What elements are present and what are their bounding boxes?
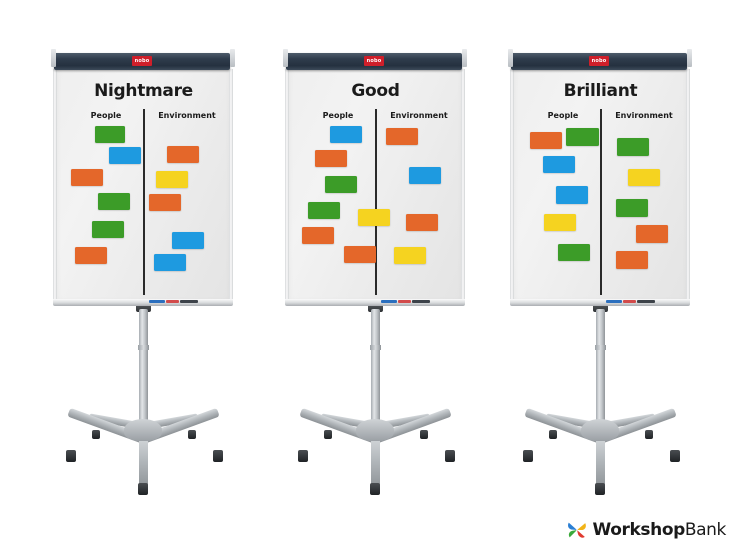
stand-hub: [124, 419, 162, 441]
stand-pole: [139, 309, 148, 433]
canvas: Nightmare People Environment nobo: [0, 0, 740, 555]
board-header-rail: nobo: [511, 53, 687, 70]
column-label-environment: Environment: [606, 111, 682, 120]
stand-pole: [371, 309, 380, 433]
flipchart-good: Good People Environment nobo: [280, 45, 470, 475]
sticky-note[interactable]: [394, 247, 426, 264]
whiteboard-surface[interactable]: Nightmare People Environment: [56, 69, 231, 302]
sticky-note[interactable]: [344, 246, 376, 263]
caster-wheel: [138, 483, 148, 495]
nobo-logo-badge: nobo: [364, 56, 384, 66]
stand-pole: [596, 309, 605, 433]
sticky-note[interactable]: [544, 214, 576, 231]
stand-pole-joint: [370, 345, 381, 350]
butterfly-icon: [566, 519, 588, 541]
logo-wordmark: WorkshopBank: [593, 520, 727, 540]
sticky-notes-layer: [514, 69, 687, 301]
board-edge-right: [229, 69, 233, 303]
sticky-note[interactable]: [98, 193, 130, 210]
rail-end-cap-right: [230, 49, 235, 67]
rail-end-cap-right: [687, 49, 692, 67]
workshopbank-logo[interactable]: WorkshopBank: [566, 519, 727, 541]
column-label-people: People: [307, 111, 369, 120]
column-label-people: People: [75, 111, 137, 120]
caster-wheel: [445, 450, 455, 462]
board-header-rail: nobo: [286, 53, 462, 70]
sticky-note[interactable]: [156, 171, 188, 188]
caster-wheel: [420, 430, 428, 439]
column-label-environment: Environment: [149, 111, 225, 120]
sticky-note[interactable]: [636, 225, 668, 243]
sticky-note[interactable]: [92, 221, 124, 238]
sticky-note[interactable]: [330, 126, 362, 143]
board-header-rail: nobo: [54, 53, 230, 70]
caster-wheel: [523, 450, 533, 462]
sticky-note[interactable]: [543, 156, 575, 173]
marker-pen-red[interactable]: [623, 300, 636, 303]
caster-wheel: [645, 430, 653, 439]
sticky-note[interactable]: [109, 147, 141, 164]
marker-pen-red[interactable]: [398, 300, 411, 303]
marker-pen-red[interactable]: [166, 300, 179, 303]
stand-pole-joint: [595, 345, 606, 350]
whiteboard-surface[interactable]: Good People Environment: [288, 69, 463, 302]
rail-end-cap-right: [462, 49, 467, 67]
sticky-note[interactable]: [358, 209, 390, 226]
sticky-note[interactable]: [556, 186, 588, 204]
logo-text-workshop: Workshop: [593, 520, 685, 540]
marker-pen-blue[interactable]: [606, 300, 622, 303]
sticky-note[interactable]: [386, 128, 418, 145]
sticky-note[interactable]: [315, 150, 347, 167]
caster-wheel: [213, 450, 223, 462]
sticky-note[interactable]: [566, 128, 599, 146]
sticky-note[interactable]: [616, 199, 648, 217]
marker-pen-black[interactable]: [637, 300, 655, 303]
sticky-note[interactable]: [325, 176, 357, 193]
board-edge-left: [285, 69, 289, 303]
rail-end-cap-left: [51, 49, 56, 67]
caster-wheel: [670, 450, 680, 462]
sticky-note[interactable]: [302, 227, 334, 244]
marker-pen-blue[interactable]: [381, 300, 397, 303]
sticky-note[interactable]: [154, 254, 186, 271]
flipchart-brilliant: Brilliant People Environment nobo: [505, 45, 695, 475]
sticky-note[interactable]: [95, 126, 125, 143]
logo-text-bank: Bank: [685, 520, 726, 540]
sticky-note[interactable]: [406, 214, 438, 231]
board-title: Nightmare: [57, 81, 230, 101]
caster-wheel: [549, 430, 557, 439]
sticky-note[interactable]: [75, 247, 107, 264]
flipchart-nightmare: Nightmare People Environment nobo: [48, 45, 238, 475]
pen-tray: [510, 299, 690, 306]
board-title: Brilliant: [514, 81, 687, 101]
caster-wheel: [595, 483, 605, 495]
sticky-note[interactable]: [71, 169, 103, 186]
board-edge-right: [686, 69, 690, 303]
board-title: Good: [289, 81, 462, 101]
nobo-logo-badge: nobo: [589, 56, 609, 66]
sticky-note[interactable]: [530, 132, 562, 149]
pen-tray: [285, 299, 465, 306]
whiteboard-surface[interactable]: Brilliant People Environment: [513, 69, 688, 302]
sticky-note[interactable]: [167, 146, 199, 163]
sticky-note[interactable]: [308, 202, 340, 219]
caster-wheel: [92, 430, 100, 439]
sticky-note[interactable]: [409, 167, 441, 184]
board-edge-left: [510, 69, 514, 303]
sticky-note[interactable]: [617, 138, 649, 156]
stand-leg: [596, 437, 605, 489]
sticky-note[interactable]: [558, 244, 590, 261]
stand-hub: [356, 419, 394, 441]
column-label-people: People: [532, 111, 594, 120]
marker-pen-blue[interactable]: [149, 300, 165, 303]
caster-wheel: [66, 450, 76, 462]
pen-tray: [53, 299, 233, 306]
sticky-note[interactable]: [149, 194, 181, 211]
sticky-note[interactable]: [616, 251, 648, 269]
stand-pole-joint: [138, 345, 149, 350]
board-edge-left: [53, 69, 57, 303]
marker-pen-black[interactable]: [180, 300, 198, 303]
sticky-note[interactable]: [628, 169, 660, 186]
caster-wheel: [324, 430, 332, 439]
rail-end-cap-left: [508, 49, 513, 67]
sticky-notes-layer: [289, 69, 462, 301]
column-label-environment: Environment: [381, 111, 457, 120]
board-edge-right: [461, 69, 465, 303]
sticky-notes-layer: [57, 69, 230, 301]
stand-leg: [371, 437, 380, 489]
stand-leg: [139, 437, 148, 489]
stand-hub: [581, 419, 619, 441]
rail-end-cap-left: [283, 49, 288, 67]
caster-wheel: [188, 430, 196, 439]
sticky-note[interactable]: [172, 232, 204, 249]
caster-wheel: [298, 450, 308, 462]
caster-wheel: [370, 483, 380, 495]
nobo-logo-badge: nobo: [132, 56, 152, 66]
marker-pen-black[interactable]: [412, 300, 430, 303]
